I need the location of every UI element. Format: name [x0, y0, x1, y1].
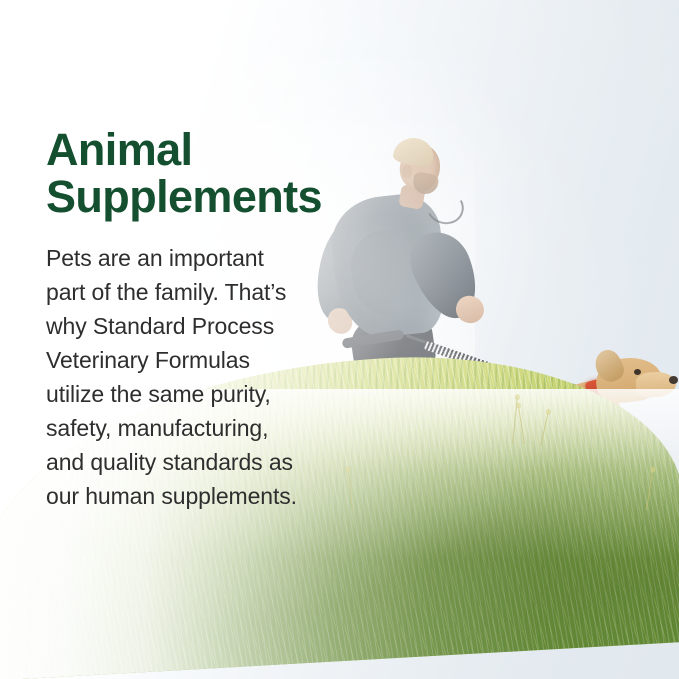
- body-line-2: part of the family. That’s: [46, 275, 331, 309]
- body-line-3: why Standard Process: [46, 309, 331, 343]
- runner-hair: [392, 135, 436, 168]
- runner-ear: [402, 165, 412, 178]
- body-paragraph: Pets are an important part of the family…: [46, 241, 331, 513]
- animal-supplements-banner: Animal Supplements Pets are an important…: [0, 0, 679, 679]
- dog-muzzle: [635, 371, 677, 399]
- headline-line-2: Supplements: [46, 173, 331, 220]
- body-line-5: utilize the same purity,: [46, 377, 331, 411]
- body-line-6: safety, manufacturing,: [46, 411, 331, 445]
- body-line-1: Pets are an important: [46, 241, 331, 275]
- headline-line-1: Animal: [46, 126, 331, 173]
- body-line-7: and quality standards as: [46, 445, 331, 479]
- dog-nose: [669, 376, 678, 384]
- body-line-4: Veterinary Formulas: [46, 343, 331, 377]
- dog-eye: [634, 369, 641, 375]
- page-title: Animal Supplements: [46, 126, 331, 220]
- body-line-8: our human supplements.: [46, 479, 331, 513]
- copy-block: Animal Supplements Pets are an important…: [46, 126, 331, 513]
